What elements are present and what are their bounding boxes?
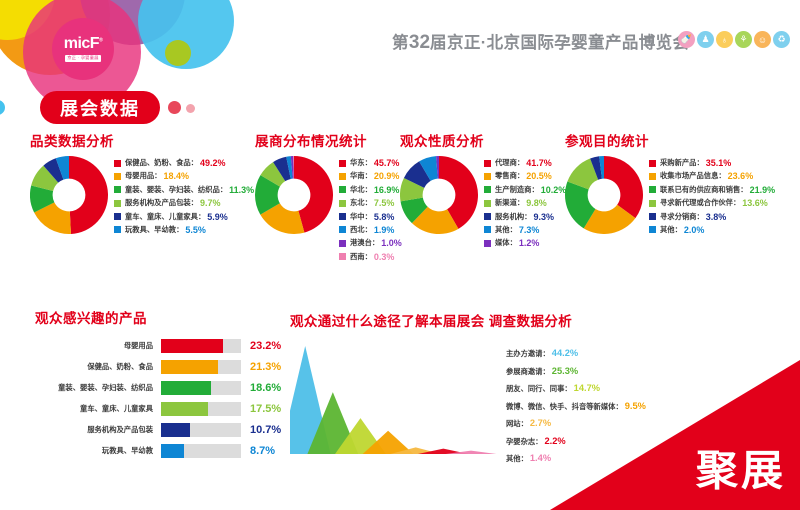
bar-value: 21.3% [250,361,281,373]
legend-label: 华南： [350,171,372,181]
legend-item: 其他：7.3% [484,225,566,235]
chart-exhibitor-distribution: 展商分布情况统计华东：45.7%华南：20.9%华北：16.9%东北：7.5%华… [255,130,402,265]
bar-track [161,444,241,458]
legend-swatch-icon [339,186,346,193]
legend-label: 华中： [350,212,372,222]
legend-value: 5.9% [207,212,228,222]
legend-label: 保健品、奶粉、食品： [125,158,198,168]
header-title-prefix: 第 [392,34,409,52]
legend-item: 华北：16.9% [339,185,402,195]
bar-chart-rows: 母婴用品23.2%保健品、奶粉、食品21.3%童装、婴装、孕妇装、纺织品18.6… [35,339,281,458]
legend-value: 35.1% [706,158,732,168]
legend-item: 新渠道：9.8% [484,198,566,208]
legend-value: 9.3% [533,212,554,222]
header-title-number: 32 [409,32,430,53]
bar-fill [161,360,218,374]
legend-value: 11.3% [229,185,254,195]
area-chart-plot [290,338,500,463]
logo-text: micF [64,35,99,52]
legend-label: 西南： [350,252,372,262]
legend-item: 东北：7.5% [339,198,402,208]
legend-swatch-icon [484,173,491,180]
chart-legend: 华东：45.7%华南：20.9%华北：16.9%东北：7.5%华中：5.8%西北… [339,156,402,265]
bar-value: 10.7% [250,424,281,436]
bar-label: 服务机构及产品包装 [35,425,161,435]
legend-label: 寻求分销商： [660,212,704,222]
donut-chart [565,156,643,234]
legend-label: 童装、婴装、孕妇装、纺织品： [125,185,227,195]
legend-item: 西北：1.9% [339,225,402,235]
chart-category-analysis: 品类数据分析保健品、奶粉、食品：49.2%母婴用品：18.4%童装、婴装、孕妇装… [30,130,254,239]
legend-value: 7.5% [374,198,395,208]
chart-legend: 代理商：41.7%零售商：20.5%生产制造商：10.2%新渠道：9.8%服务机… [484,156,566,252]
chart-body: 采购新产品：35.1%收集市场产品信息：23.6%联系已有的供应商和销售：21.… [565,156,775,239]
legend-swatch-icon [339,226,346,233]
legend-label: 童车、童床、儿童家具： [125,212,205,222]
legend-label: 其他： [660,225,682,235]
legend-label: 收集市场产品信息： [660,171,726,181]
legend-swatch-icon [339,160,346,167]
legend-item: 寻求分销商：3.8% [649,212,775,222]
poster-canvas: micF® 京正 · 孕婴童展 第32届京正·北京国际孕婴童产品博览会 🍼♟♁⚘… [0,0,800,510]
legend-label: 东北： [350,198,372,208]
section-badge: 展会数据 [40,91,160,124]
legend-value: 3.8% [706,212,727,222]
bar-fill [161,381,211,395]
area-legend-value: 1.4% [530,453,551,463]
donut-wrapper [400,156,478,239]
legend-value: 10.2% [541,185,567,195]
legend-label: 寻求新代理或合作伙伴： [660,198,740,208]
bar-row: 童装、婴装、孕妇装、纺织品18.6% [35,381,281,395]
bottle-icon: 🍼 [678,31,695,48]
legend-swatch-icon [484,200,491,207]
bar-label: 保健品、奶粉、食品 [35,362,161,372]
bar-chart-title: 观众感兴趣的产品 [35,307,281,327]
badge-dot-small-icon [186,104,195,113]
bar-row: 服务机构及产品包装10.7% [35,423,281,437]
legend-value: 9.8% [526,198,547,208]
bar-row: 玩教具、早幼教8.7% [35,444,281,458]
chart-interested-products: 观众感兴趣的产品 母婴用品23.2%保健品、奶粉、食品21.3%童装、婴装、孕妇… [35,307,281,465]
legend-value: 1.9% [374,225,395,235]
bar-track [161,381,241,395]
legend-value: 0.3% [374,252,395,262]
chart-body: 华东：45.7%华南：20.9%华北：16.9%东北：7.5%华中：5.8%西北… [255,156,402,265]
legend-value: 13.6% [742,198,768,208]
legend-swatch-icon [484,160,491,167]
legend-item: 华中：5.8% [339,212,402,222]
area-legend-label: 其他： [506,454,528,463]
legend-item: 西南：0.3% [339,252,402,262]
legend-swatch-icon [649,226,656,233]
micf-logo: micF® 京正 · 孕婴童展 [52,18,114,80]
bar-track [161,402,241,416]
legend-label: 服务机构及产品包装： [125,198,198,208]
bubble-blue-dot [0,100,5,115]
legend-item: 童车、童床、儿童家具：5.9% [114,212,254,222]
legend-label: 西北： [350,225,372,235]
pram-icon: ♻ [773,31,790,48]
legend-swatch-icon [649,200,656,207]
legend-value: 20.5% [526,171,552,181]
donut-chart [30,156,108,234]
legend-value: 9.7% [200,198,221,208]
bar-value: 23.2% [250,340,281,352]
legend-swatch-icon [484,240,491,247]
bar-row: 保健品、奶粉、食品21.3% [35,360,281,374]
legend-swatch-icon [339,253,346,260]
legend-value: 2.0% [684,225,705,235]
legend-item: 童装、婴装、孕妇装、纺织品：11.3% [114,185,254,195]
legend-item: 其他：2.0% [649,225,775,235]
corner-logo-text: 聚展 [696,450,786,492]
legend-item: 媒体：1.2% [484,238,566,248]
bar-label: 童装、婴装、孕妇装、纺织品 [35,383,161,393]
legend-value: 1.2% [519,238,540,248]
legend-swatch-icon [339,200,346,207]
bar-fill [161,423,190,437]
duck-icon: ♁ [716,31,733,48]
donut-chart [400,156,478,234]
legend-item: 服务机构：9.3% [484,212,566,222]
donut-slice [69,156,108,234]
logo-subtitle: 京正 · 孕婴童展 [65,55,101,62]
legend-label: 其他： [495,225,517,235]
area-legend-item: 主办方邀请：44.2% [506,348,646,359]
chart-title: 观众性质分析 [400,130,566,150]
legend-swatch-icon [484,186,491,193]
legend-label: 代理商： [495,158,524,168]
legend-value: 16.9% [374,185,400,195]
donut-wrapper [30,156,108,239]
bar-fill [161,402,208,416]
legend-item: 代理商：41.7% [484,158,566,168]
legend-label: 零售商： [495,171,524,181]
area-legend-label: 网站： [506,419,528,428]
bar-track [161,339,241,353]
legend-value: 49.2% [200,158,226,168]
legend-item: 联系已有的供应商和销售：21.9% [649,185,775,195]
legend-swatch-icon [649,186,656,193]
legend-label: 生产制造商： [495,185,539,195]
chart-legend: 保健品、奶粉、食品：49.2%母婴用品：18.4%童装、婴装、孕妇装、纺织品：1… [114,156,254,238]
chart-body: 代理商：41.7%零售商：20.5%生产制造商：10.2%新渠道：9.8%服务机… [400,156,566,252]
legend-label: 华北： [350,185,372,195]
donut-wrapper [255,156,333,239]
badge-dot-large-icon [168,101,181,114]
chart-visit-purpose: 参观目的统计采购新产品：35.1%收集市场产品信息：23.6%联系已有的供应商和… [565,130,775,239]
legend-item: 母婴用品：18.4% [114,171,254,181]
legend-swatch-icon [339,173,346,180]
legend-item: 采购新产品：35.1% [649,158,775,168]
header-title-suffix: 届京正·北京国际孕婴童产品博览会 [430,34,689,52]
bar-label: 玩教具、早幼教 [35,446,161,456]
logo-wordmark: micF® [64,36,103,52]
area-legend-value: 44.2% [552,348,578,358]
legend-label: 港澳台： [350,238,379,248]
legend-item: 零售商：20.5% [484,171,566,181]
bubble-green-small [165,40,191,66]
legend-swatch-icon [114,226,121,233]
legend-label: 媒体： [495,238,517,248]
chart-audience-nature: 观众性质分析代理商：41.7%零售商：20.5%生产制造商：10.2%新渠道：9… [400,130,566,252]
legend-label: 联系已有的供应商和销售： [660,185,748,195]
bar-track [161,423,241,437]
legend-item: 华东：45.7% [339,158,402,168]
legend-swatch-icon [114,213,121,220]
stroller-icon: ⚘ [735,31,752,48]
legend-swatch-icon [484,213,491,220]
shirt-icon: ♟ [697,31,714,48]
bar-label: 母婴用品 [35,341,161,351]
area-legend-label: 孕婴杂志： [506,437,542,446]
bar-track [161,360,241,374]
legend-swatch-icon [339,240,346,247]
chart-title: 展商分布情况统计 [255,130,402,150]
legend-label: 新渠道： [495,198,524,208]
legend-value: 23.6% [728,171,754,181]
logo-registered-icon: ® [99,38,102,44]
bar-value: 8.7% [250,445,275,457]
legend-label: 玩教具、早幼教： [125,225,183,235]
bar-row: 童车、童床、儿童家具17.5% [35,402,281,416]
area-legend-label: 主办方邀请： [506,349,550,358]
bar-label: 童车、童床、儿童家具 [35,404,161,414]
bar-row: 母婴用品23.2% [35,339,281,353]
legend-swatch-icon [114,160,121,167]
legend-swatch-icon [114,186,121,193]
legend-swatch-icon [114,173,121,180]
legend-value: 1.0% [381,238,402,248]
area-chart-title: 观众通过什么途径了解本届展会 调查数据分析 [290,310,646,330]
chart-title: 参观目的统计 [565,130,775,150]
legend-swatch-icon [484,226,491,233]
bar-value: 18.6% [250,382,281,394]
legend-label: 母婴用品： [125,171,161,181]
legend-value: 45.7% [374,158,400,168]
bear-icon: ☺ [754,31,771,48]
donut-wrapper [565,156,643,239]
legend-item: 生产制造商：10.2% [484,185,566,195]
legend-item: 玩教具、早幼教：5.5% [114,225,254,235]
legend-swatch-icon [649,160,656,167]
legend-swatch-icon [649,213,656,220]
legend-item: 港澳台：1.0% [339,238,402,248]
legend-swatch-icon [339,213,346,220]
legend-item: 寻求新代理或合作伙伴：13.6% [649,198,775,208]
chart-legend: 采购新产品：35.1%收集市场产品信息：23.6%联系已有的供应商和销售：21.… [649,156,775,238]
chart-body: 保健品、奶粉、食品：49.2%母婴用品：18.4%童装、婴装、孕妇装、纺织品：1… [30,156,254,239]
corner-banner: 聚展 [550,360,800,510]
bar-fill [161,339,223,353]
legend-swatch-icon [649,173,656,180]
header-icon-row: 🍼♟♁⚘☺♻ [678,31,790,48]
legend-value: 5.5% [185,225,206,235]
header-title: 第32届京正·北京国际孕婴童产品博览会 [392,29,689,54]
donut-slice [604,156,643,218]
chart-title: 品类数据分析 [30,130,254,150]
legend-item: 服务机构及产品包装：9.7% [114,198,254,208]
area-chart-svg [290,338,500,458]
bar-value: 17.5% [250,403,281,415]
legend-label: 采购新产品： [660,158,704,168]
area-legend-label: 参展商邀请： [506,367,550,376]
bar-fill [161,444,184,458]
legend-label: 华东： [350,158,372,168]
legend-item: 收集市场产品信息：23.6% [649,171,775,181]
legend-value: 5.8% [374,212,395,222]
area-legend-value: 2.7% [530,418,551,428]
legend-value: 21.9% [750,185,776,195]
legend-label: 服务机构： [495,212,531,222]
legend-value: 20.9% [374,171,400,181]
legend-swatch-icon [114,200,121,207]
legend-value: 7.3% [519,225,540,235]
legend-item: 华南：20.9% [339,171,402,181]
donut-chart [255,156,333,234]
legend-value: 18.4% [163,171,189,181]
legend-item: 保健品、奶粉、食品：49.2% [114,158,254,168]
legend-value: 41.7% [526,158,552,168]
